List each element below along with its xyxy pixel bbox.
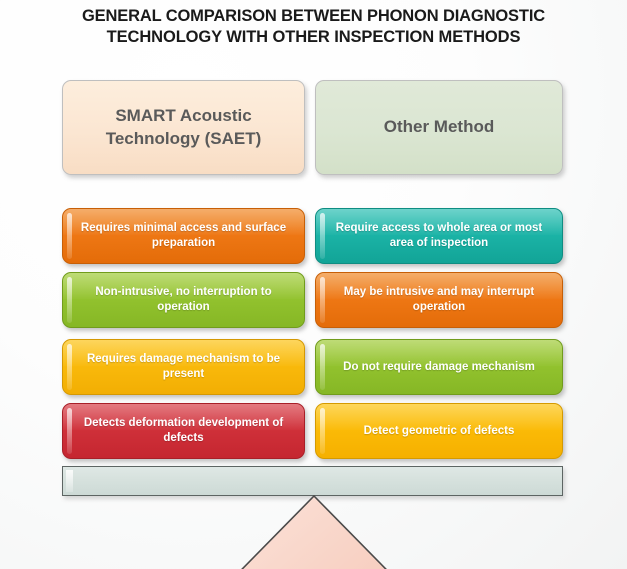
balance-beam-gloss (66, 470, 73, 492)
slide-canvas: GENERAL COMPARISON BETWEEN PHONON DIAGNO… (0, 0, 627, 569)
page-title-line-1: GENERAL COMPARISON BETWEEN PHONON DIAGNO… (10, 6, 617, 27)
comparison-cell-right-4: Detect geometric of defects (315, 403, 563, 459)
comparison-cell-right-1-label: Require access to whole area or most are… (328, 221, 550, 250)
comparison-cell-right-4-label: Detect geometric of defects (364, 424, 515, 439)
column-header-other-method: Other Method (315, 80, 563, 175)
comparison-cell-left-2: Non-intrusive, no interruption to operat… (62, 272, 305, 328)
comparison-cell-right-3: Do not require damage mechanism (315, 339, 563, 395)
column-header-other-method-label: Other Method (384, 116, 495, 138)
page-title: GENERAL COMPARISON BETWEEN PHONON DIAGNO… (10, 6, 617, 48)
comparison-cell-left-3-label: Requires damage mechanism to be present (75, 352, 292, 381)
comparison-cell-left-2-label: Non-intrusive, no interruption to operat… (75, 285, 292, 314)
comparison-cell-left-4: Detects deformation development of defec… (62, 403, 305, 459)
comparison-cell-left-4-label: Detects deformation development of defec… (75, 416, 292, 445)
comparison-cell-right-2-label: May be intrusive and may interrupt opera… (328, 285, 550, 314)
comparison-cell-right-3-label: Do not require damage mechanism (343, 360, 535, 375)
balance-beam-bar (62, 466, 563, 496)
comparison-cell-right-2: May be intrusive and may interrupt opera… (315, 272, 563, 328)
fulcrum-triangle-icon (196, 494, 432, 569)
comparison-cell-left-1: Requires minimal access and surface prep… (62, 208, 305, 264)
comparison-cell-right-1: Require access to whole area or most are… (315, 208, 563, 264)
page-title-line-2: TECHNOLOGY WITH OTHER INSPECTION METHODS (10, 27, 617, 48)
column-header-saet-label: SMART Acoustic Technology (SAET) (73, 105, 294, 150)
comparison-cell-left-3: Requires damage mechanism to be present (62, 339, 305, 395)
column-header-saet: SMART Acoustic Technology (SAET) (62, 80, 305, 175)
comparison-cell-left-1-label: Requires minimal access and surface prep… (75, 221, 292, 250)
